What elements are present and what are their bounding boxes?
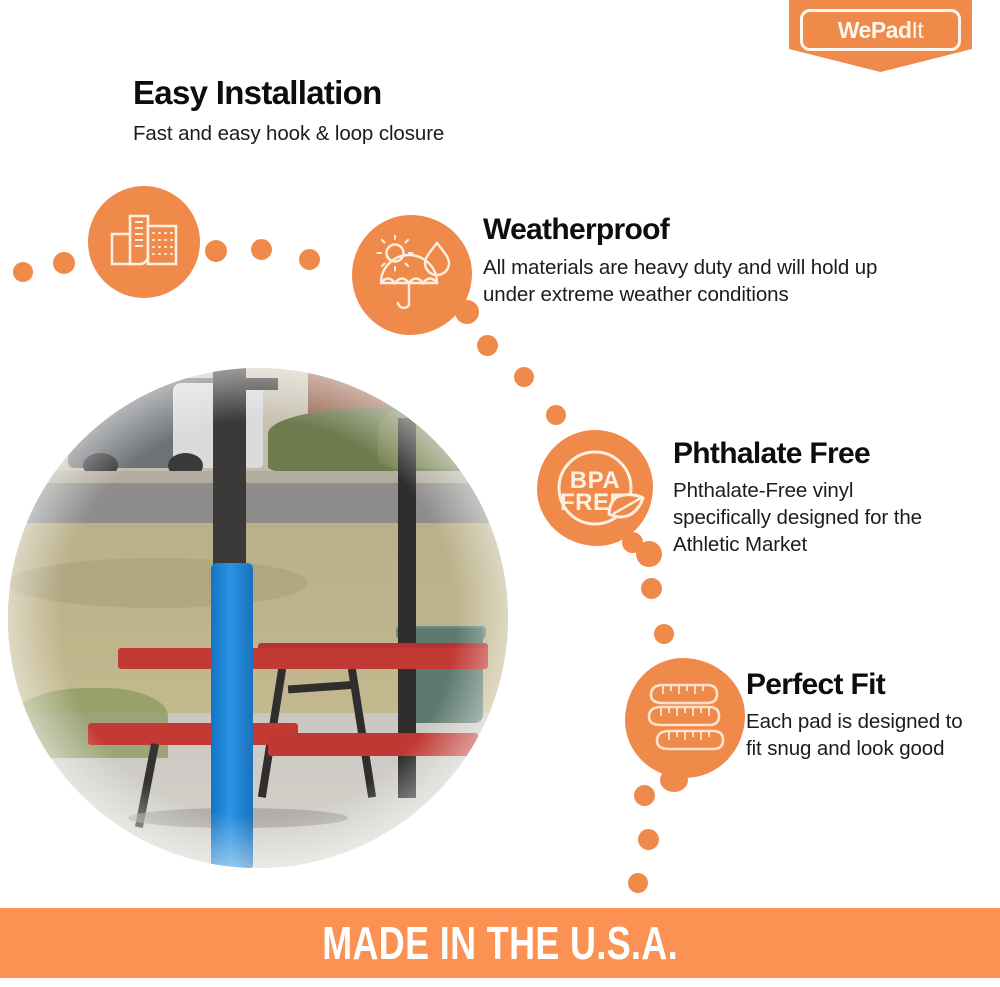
feature-title-weatherproof: Weatherproof bbox=[483, 214, 903, 246]
bpa-free-leaf-icon: BPA FREE bbox=[537, 430, 653, 546]
hook-and-loop-icon bbox=[88, 186, 200, 298]
feature-title-easy-installation: Easy Installation bbox=[133, 76, 563, 111]
trail-dot bbox=[299, 249, 320, 270]
trail-dot bbox=[654, 624, 674, 644]
logo-wordmark: WePadIt bbox=[838, 19, 924, 42]
feature-block-phthalate-free: Phthalate Free Phthalate-Free vinyl spec… bbox=[673, 438, 953, 558]
trail-dot bbox=[205, 240, 227, 262]
logo-text-it: It bbox=[912, 17, 924, 43]
sun-umbrella-raindrop-icon bbox=[352, 215, 472, 335]
feature-title-perfect-fit: Perfect Fit bbox=[746, 669, 976, 701]
icon-blob-fit bbox=[660, 768, 688, 792]
icon-blob-bpa bbox=[636, 541, 662, 567]
trail-dot bbox=[53, 252, 75, 274]
icon-blob-weather bbox=[455, 300, 479, 324]
trail-dot bbox=[638, 829, 659, 850]
feature-block-perfect-fit: Perfect Fit Each pad is designed to fit … bbox=[746, 669, 976, 762]
made-in-usa-banner: MADE IN THE U.S.A. bbox=[0, 908, 1000, 978]
trail-dot bbox=[13, 262, 33, 282]
trail-dot bbox=[641, 578, 662, 599]
trail-dot bbox=[251, 239, 272, 260]
product-photo bbox=[8, 368, 508, 868]
brand-logo[interactable]: WePadIt bbox=[789, 0, 972, 72]
marketing-infographic: WePadIt Easy Installation Fast and easy … bbox=[0, 0, 1000, 987]
feature-description-perfect-fit: Each pad is designed to fit snug and loo… bbox=[746, 708, 976, 762]
feature-description-weatherproof: All materials are heavy duty and will ho… bbox=[483, 254, 903, 308]
feature-block-weatherproof: Weatherproof All materials are heavy dut… bbox=[483, 214, 903, 308]
trail-dot bbox=[634, 785, 655, 806]
photo-vignette-fade bbox=[8, 368, 508, 868]
made-in-usa-text: MADE IN THE U.S.A. bbox=[322, 920, 678, 966]
feature-description-easy-installation: Fast and easy hook & loop closure bbox=[133, 120, 563, 147]
logo-text-we: We bbox=[838, 17, 871, 43]
feature-description-phthalate-free: Phthalate-Free vinyl specifically design… bbox=[673, 477, 953, 558]
trail-dot bbox=[628, 873, 648, 893]
trail-dot bbox=[477, 335, 498, 356]
measuring-tape-icon bbox=[625, 658, 745, 778]
logo-text-pad: Pad bbox=[871, 17, 912, 43]
feature-block-easy-installation: Easy Installation Fast and easy hook & l… bbox=[133, 76, 563, 147]
feature-title-phthalate-free: Phthalate Free bbox=[673, 438, 953, 470]
trail-dot bbox=[546, 405, 566, 425]
logo-outline-box: WePadIt bbox=[800, 9, 961, 51]
trail-dot bbox=[514, 367, 534, 387]
